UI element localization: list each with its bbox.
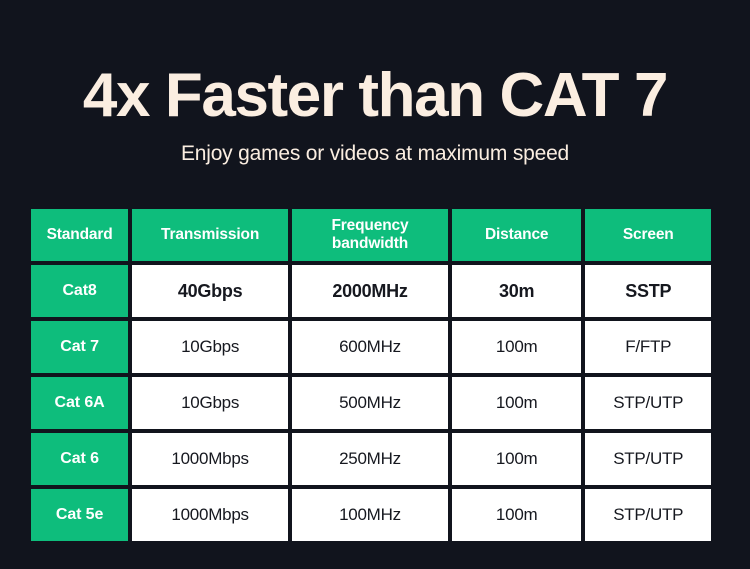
cell-distance: 100m — [452, 321, 582, 373]
column-header-screen: Screen — [585, 209, 711, 261]
cell-standard: Cat 7 — [31, 321, 128, 373]
cell-frequency: 500MHz — [292, 377, 448, 429]
cell-frequency: 250MHz — [292, 433, 448, 485]
cell-standard: Cat8 — [31, 265, 128, 317]
cell-screen: F/FTP — [585, 321, 711, 373]
cell-frequency: 600MHz — [292, 321, 448, 373]
table-row: Cat 7 10Gbps 600MHz 100m F/FTP — [31, 321, 711, 373]
cell-standard: Cat 5e — [31, 489, 128, 541]
cell-transmission: 1000Mbps — [132, 433, 288, 485]
page-subtitle: Enjoy games or videos at maximum speed — [0, 140, 750, 168]
page-title: 4x Faster than CAT 7 — [0, 62, 750, 130]
column-header-frequency-line1: Frequency — [292, 217, 448, 235]
heading-block: 4x Faster than CAT 7 Enjoy games or vide… — [0, 62, 750, 168]
cell-standard: Cat 6 — [31, 433, 128, 485]
cell-distance: 100m — [452, 489, 582, 541]
column-header-transmission: Transmission — [132, 209, 288, 261]
cell-screen: STP/UTP — [585, 377, 711, 429]
cell-screen: SSTP — [585, 265, 711, 317]
cell-transmission: 10Gbps — [132, 377, 288, 429]
table-row: Cat 6A 10Gbps 500MHz 100m STP/UTP — [31, 377, 711, 429]
table-header-row: Standard Transmission Frequency bandwidt… — [31, 209, 711, 261]
table-row: Cat8 40Gbps 2000MHz 30m SSTP — [31, 265, 711, 317]
column-header-standard: Standard — [31, 209, 128, 261]
cell-screen: STP/UTP — [585, 489, 711, 541]
cell-frequency: 2000MHz — [292, 265, 448, 317]
column-header-distance: Distance — [452, 209, 582, 261]
cell-transmission: 40Gbps — [132, 265, 288, 317]
cell-distance: 100m — [452, 377, 582, 429]
table-row: Cat 5e 1000Mbps 100MHz 100m STP/UTP — [31, 489, 711, 541]
cell-transmission: 1000Mbps — [132, 489, 288, 541]
cell-transmission: 10Gbps — [132, 321, 288, 373]
cell-distance: 100m — [452, 433, 582, 485]
table-row: Cat 6 1000Mbps 250MHz 100m STP/UTP — [31, 433, 711, 485]
cell-distance: 30m — [452, 265, 582, 317]
cell-screen: STP/UTP — [585, 433, 711, 485]
cell-frequency: 100MHz — [292, 489, 448, 541]
promo-poster: 4x Faster than CAT 7 Enjoy games or vide… — [0, 0, 750, 569]
cell-standard: Cat 6A — [31, 377, 128, 429]
column-header-frequency-line2: bandwidth — [292, 235, 448, 253]
column-header-frequency-bandwidth: Frequency bandwidth — [292, 209, 448, 261]
cable-spec-table: Standard Transmission Frequency bandwidt… — [27, 205, 715, 545]
